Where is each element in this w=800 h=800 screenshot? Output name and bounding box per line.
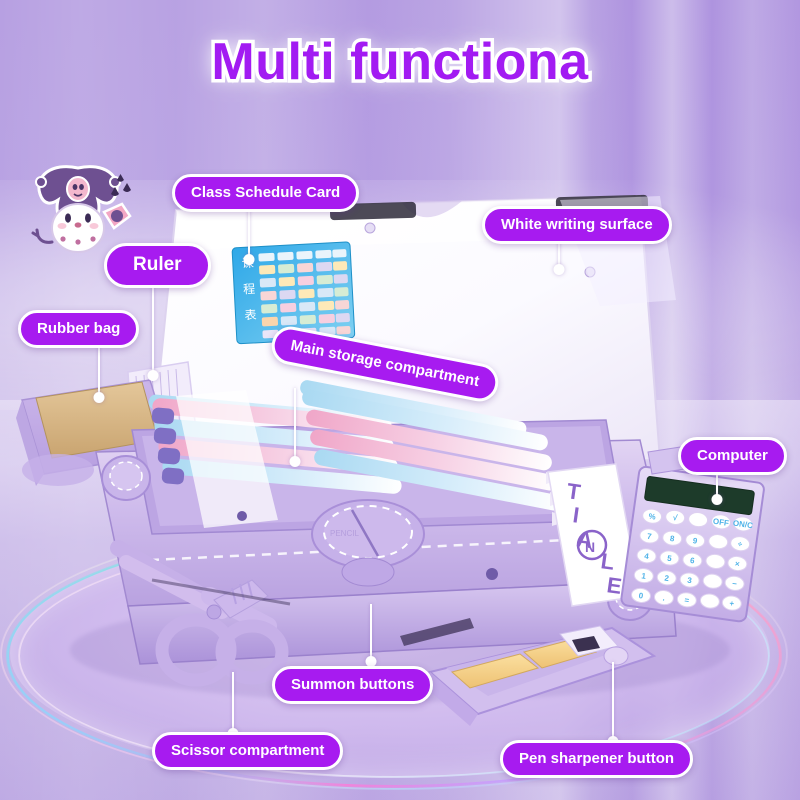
- callout-computer[interactable]: Computer: [678, 437, 787, 475]
- leader-rubber-bag: [98, 340, 100, 398]
- leader-ruler: [152, 276, 154, 376]
- callout-class-schedule-card[interactable]: Class Schedule Card: [172, 174, 359, 212]
- svg-text:PENCIL: PENCIL: [330, 529, 359, 538]
- leader-summon-buttons: [370, 604, 372, 662]
- callout-pen-sharpener-button[interactable]: Pen sharpener button: [500, 740, 693, 778]
- leader-scissor-compartment: [232, 672, 234, 734]
- product-infographic: Multi functiona: [0, 0, 800, 800]
- svg-text:表: 表: [244, 308, 257, 323]
- callout-ruler[interactable]: Ruler: [104, 243, 211, 288]
- calculator: %√OFFON/C 789÷ 456× 123− 0.=+: [621, 466, 765, 622]
- leader-main-storage-compartment: [294, 388, 296, 462]
- svg-text:%: %: [648, 512, 656, 522]
- leader-class-schedule-card: [248, 208, 250, 260]
- svg-text:N: N: [585, 539, 595, 555]
- callout-white-writing-surface[interactable]: White writing surface: [482, 206, 672, 244]
- calculator-keypad: %√OFFON/C 789÷ 456× 123− 0.=+: [631, 503, 754, 616]
- callout-summon-buttons[interactable]: Summon buttons: [272, 666, 433, 704]
- callout-scissor-compartment[interactable]: Scissor compartment: [152, 732, 343, 770]
- callout-rubber-bag[interactable]: Rubber bag: [18, 310, 139, 348]
- svg-text:程: 程: [243, 281, 256, 297]
- leader-pen-sharpener-button: [612, 662, 614, 742]
- pen-sharpener-button: [604, 647, 628, 665]
